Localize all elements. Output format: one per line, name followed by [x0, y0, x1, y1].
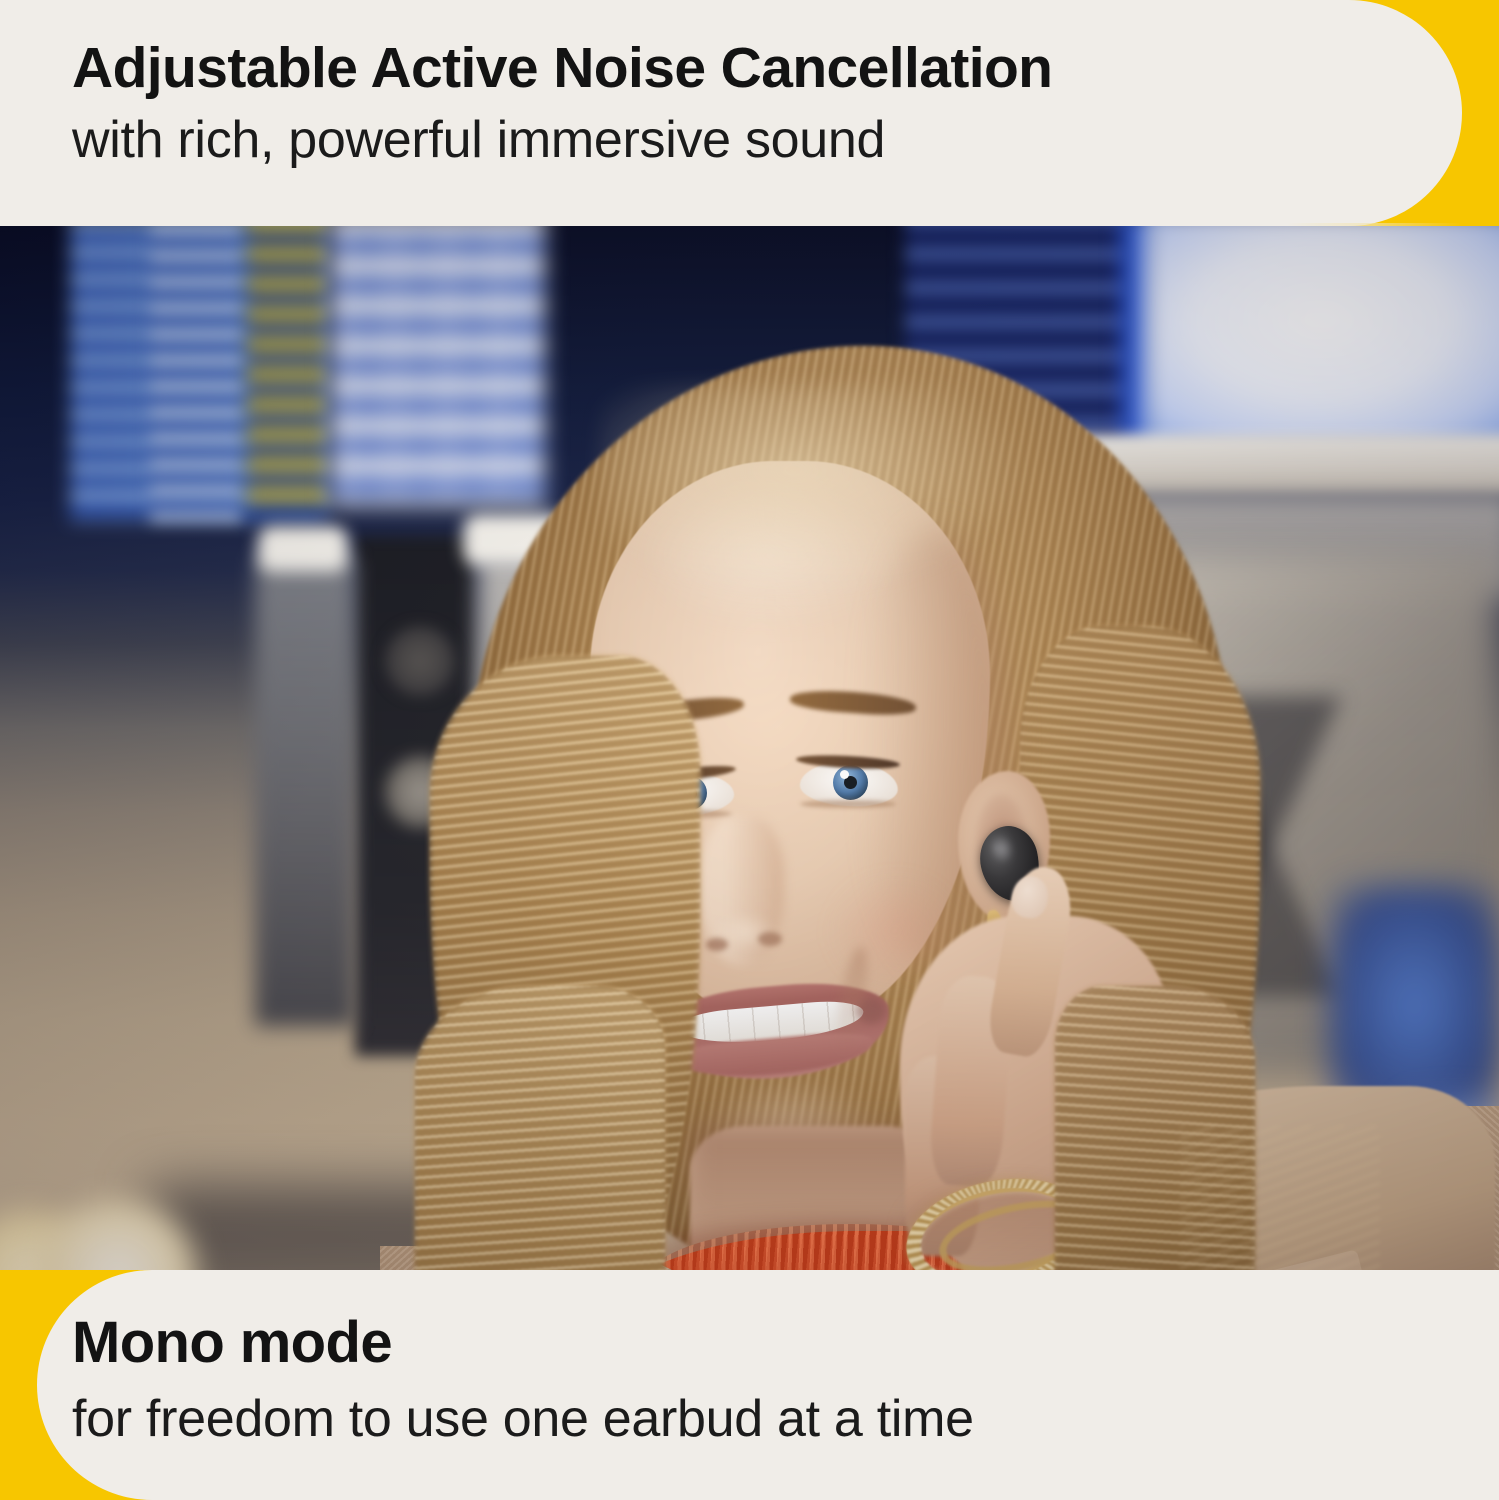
departure-board-yellow [247, 226, 329, 518]
eye-glint-right [840, 770, 849, 779]
lower-lid-right [800, 800, 896, 808]
bright-display-panel [1145, 226, 1499, 452]
top-banner-subline: with rich, powerful immersive sound [72, 110, 1322, 171]
bottom-banner-headline: Mono mode [72, 1312, 1322, 1375]
bottom-banner-subline: for freedom to use one earbud at a time [72, 1389, 1322, 1450]
departure-board-white [330, 226, 545, 506]
bottom-banner-text: Mono mode for freedom to use one earbud … [72, 1312, 1322, 1450]
hair-front-left-texture [415, 986, 665, 1271]
nostril-left [706, 938, 728, 951]
product-feature-card: Adjustable Active Noise Cancellation wit… [0, 0, 1499, 1500]
terminal-sign-upper [385, 626, 455, 696]
top-feature-banner: Adjustable Active Noise Cancellation wit… [0, 0, 1499, 226]
nostril-right [758, 932, 782, 946]
top-banner-headline: Adjustable Active Noise Cancellation [72, 38, 1322, 100]
lifestyle-photo [0, 226, 1499, 1271]
departure-board-column [150, 226, 242, 521]
ceiling-light-left [258, 526, 348, 572]
hair-sheen [600, 386, 1030, 596]
top-banner-text: Adjustable Active Noise Cancellation wit… [72, 38, 1322, 171]
hair-wisps [1180, 1126, 1380, 1271]
terminal-pillar-left [255, 556, 355, 1026]
bottom-feature-banner: Mono mode for freedom to use one earbud … [0, 1270, 1499, 1500]
